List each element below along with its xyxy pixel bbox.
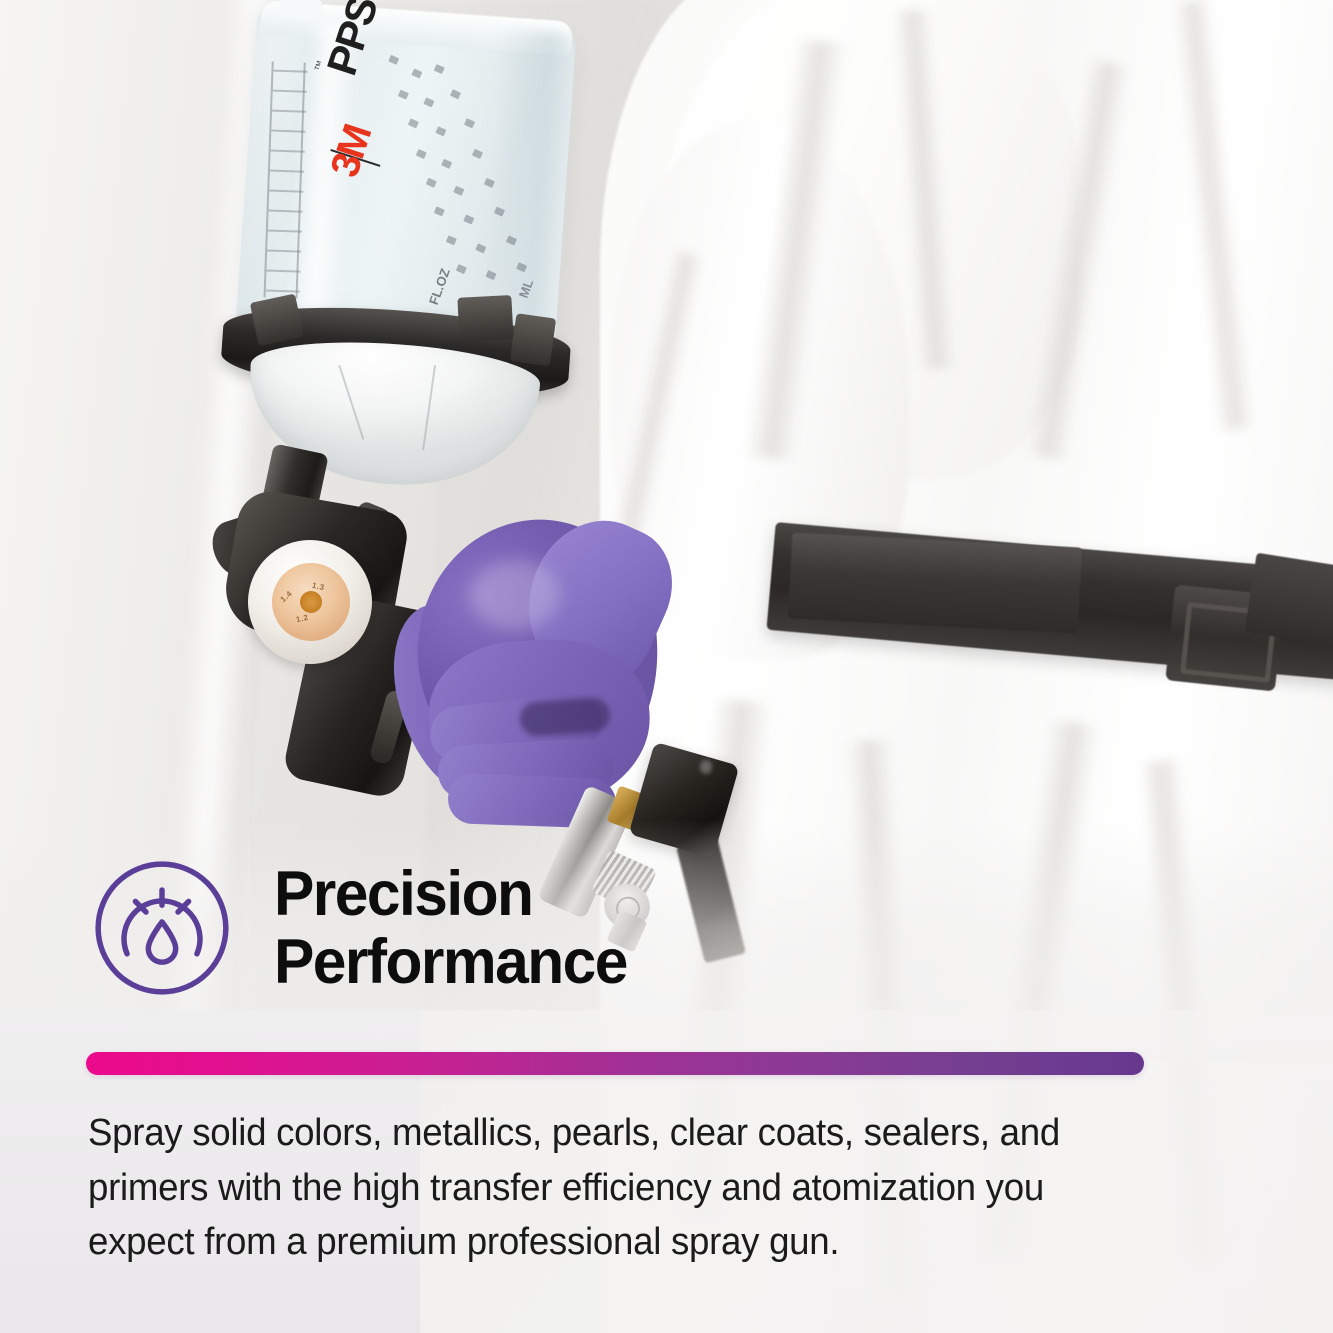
feature-title: Precision Performance — [274, 860, 627, 996]
feature-card: ™ PPS 3M FL.OZ ML 1.4 1.3 1.2 — [0, 0, 1333, 1333]
feature-content: Precision Performance Spray solid colors… — [0, 0, 1333, 1333]
feature-heading-row: Precision Performance — [86, 846, 1186, 1004]
gradient-divider — [86, 1052, 1144, 1075]
feature-body-text: Spray solid colors, metallics, pearls, c… — [88, 1106, 1125, 1270]
precision-gauge-droplet-icon — [86, 852, 238, 1004]
